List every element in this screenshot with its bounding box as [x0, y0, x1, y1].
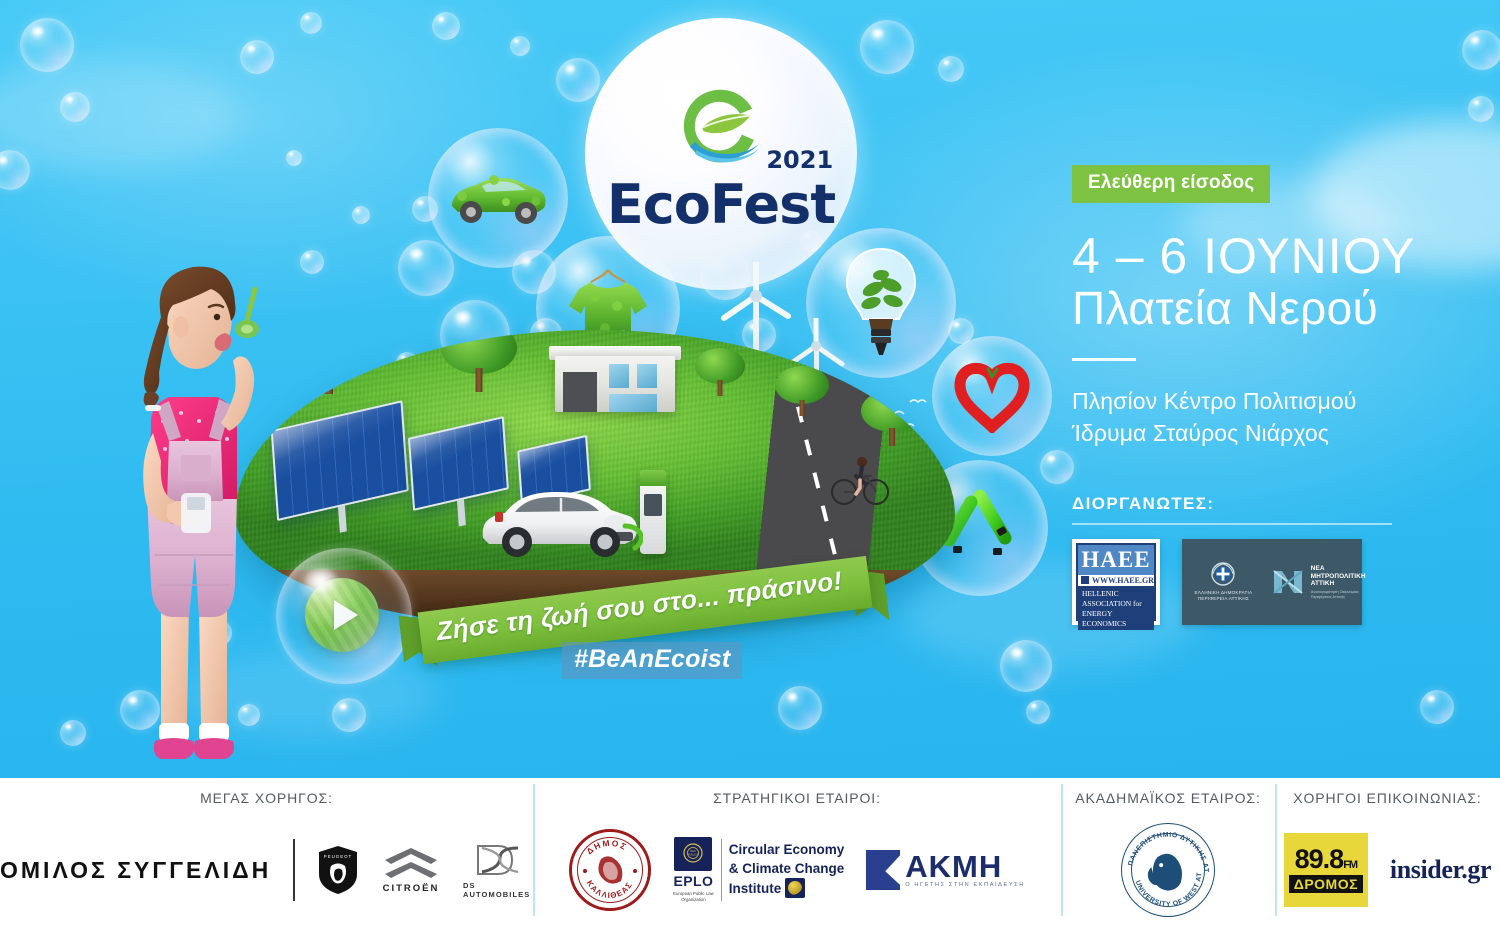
svg-text:PUBLICA: PUBLICA	[688, 854, 699, 857]
ds-wordmark: DS AUTOMOBILES	[463, 881, 533, 899]
footer-label-academic-partner: ΑΚΑΔΗΜΑΪΚΟΣ ΕΤΑΙΡΟΣ:	[1075, 790, 1261, 806]
attica-sub-1: Ανασυγκρότηση Οικονομίας	[1311, 589, 1366, 594]
footer-column-strategic-partners: ΣΤΡΑΤΗΓΙΚΟΙ ΕΤΑΙΡΟΙ: ΔΗΜΟΣ ΚΑΛΛΙΘΕΑΣ	[533, 778, 1061, 928]
attica-brand-3: ΑΤΤΙΚΗ	[1311, 580, 1366, 588]
sponsors-footer: ΜΕΓΑΣ ΧΟΡΗΓΟΣ: ΟΜΙΛΟΣ ΣΥΓΓΕΛΙΔΗ PEUGEOT	[0, 778, 1500, 928]
greek-coat-of-arms-icon	[1210, 561, 1236, 587]
pepper-heart-icon	[952, 359, 1032, 433]
event-date: 4 – 6 ΙΟΥΝΙΟΥ	[1072, 229, 1472, 283]
play-triangle-icon	[334, 600, 358, 630]
eplo-divider	[721, 839, 722, 901]
citroen-chevrons-icon	[381, 846, 441, 880]
ecofest-wordmark: 2021 EcoFest	[607, 178, 835, 232]
green-car-icon	[446, 168, 550, 228]
soap-bubble	[60, 720, 86, 746]
soap-bubble	[1468, 96, 1494, 122]
peugeot-shield-icon: PEUGEOT	[317, 844, 359, 896]
haee-line-2: ASSOCIATION for	[1082, 599, 1151, 609]
akmi-tagline: Ο ΗΓΕΤΗΣ ΣΤΗΝ ΕΚΠΑΙΔΕΥΣΗ	[905, 882, 1025, 888]
soap-bubble	[300, 250, 324, 274]
svg-text:ΔΗΜΟΣ: ΔΗΜΟΣ	[584, 838, 629, 857]
sponsor-divider	[293, 839, 295, 901]
logo-text: EcoFest	[607, 173, 835, 236]
soap-bubble	[556, 58, 600, 102]
eplo-crest-icon: RES PUBLICA	[674, 837, 712, 871]
footer-column-academic-partner: ΑΚΑΔΗΜΑΪΚΟΣ ΕΤΑΙΡΟΣ: ΠΑΝΕΠΙΣΤΗΜΙΟ ΔΥΤΙΚΗ…	[1061, 778, 1275, 928]
haee-logo: HAEE WWW.HAEE.GR HELLENIC ASSOCIATION fo…	[1072, 539, 1160, 625]
svg-text:PEUGEOT: PEUGEOT	[324, 854, 352, 859]
media-sponsor-insider: insider.gr	[1390, 855, 1491, 885]
akmi-mark-icon	[866, 850, 900, 890]
ev-charging-station	[640, 470, 666, 554]
haee-url: WWW.HAEE.GR	[1092, 576, 1154, 585]
dromos-fm-label: FM	[1343, 859, 1357, 871]
soap-bubble	[240, 40, 274, 74]
eplo-title-2: & Climate Change	[729, 860, 845, 878]
ecofest-logo-bubble: 2021 EcoFest	[585, 18, 857, 290]
dromos-station-name: ΔΡΟΜΟΣ	[1289, 875, 1363, 893]
akmi-wordmark: ΑΚΜΗ	[905, 852, 1025, 881]
soap-bubble	[510, 36, 530, 56]
tree	[283, 330, 375, 394]
attica-brand-2: ΜΗΤΡΟΠΟΛΙΤΙΚΗ	[1311, 573, 1366, 581]
logo-year: 2021	[766, 146, 833, 174]
svg-text:RES: RES	[691, 849, 697, 853]
cloud	[0, 60, 240, 170]
eplo-acronym: EPLO	[674, 873, 714, 889]
soap-bubble	[352, 206, 370, 224]
tree	[775, 366, 829, 416]
haee-line-3: ENERGY ECONOMICS	[1082, 609, 1151, 629]
eco-house	[555, 338, 675, 412]
event-place: Πλατεία Νερού	[1072, 283, 1472, 334]
dromos-frequency: 89.8	[1295, 844, 1344, 874]
eplo-globe-icon	[785, 878, 805, 898]
tree	[441, 330, 517, 392]
soap-bubble	[938, 56, 964, 82]
organizers-label: ΔΙΟΡΓΑΝΩΤΕΣ:	[1072, 494, 1472, 514]
hero-sky-background: 2021 EcoFest	[0, 0, 1500, 778]
footer-column-main-sponsor: ΜΕΓΑΣ ΧΟΡΗΓΟΣ: ΟΜΙΛΟΣ ΣΥΓΓΕΛΙΔΗ PEUGEOT	[0, 778, 533, 928]
attica-brand-1: ΝΕΑ	[1311, 565, 1366, 573]
footer-label-strategic-partners: ΣΤΡΑΤΗΓΙΚΟΙ ΕΤΑΙΡΟΙ:	[713, 790, 881, 806]
electric-car	[475, 482, 643, 560]
citroen-wordmark: CITROËN	[383, 883, 440, 894]
tree	[695, 348, 745, 396]
venue-line-2: Ίδρυμα Σταύρος Νιάρχος	[1072, 417, 1472, 450]
organizers-logos: HAEE WWW.HAEE.GR HELLENIC ASSOCIATION fo…	[1072, 539, 1472, 625]
soap-bubble	[1026, 700, 1050, 724]
play-leaf-button[interactable]	[305, 578, 379, 652]
sponsor-citroen: CITROËN	[381, 846, 441, 894]
haee-line-1: HELLENIC	[1082, 589, 1151, 599]
girl-blowing-bubbles	[95, 255, 285, 775]
partner-eplo-institute: RES PUBLICA EPLO European Public Law Org…	[673, 837, 844, 902]
partner-dimos-kallitheas: ΔΗΜΟΣ ΚΑΛΛΙΘΕΑΣ	[569, 829, 651, 911]
attica-caption-2: ΠΕΡΙΦΕΡΕΙΑ ΑΤΤΙΚΗΣ	[1195, 596, 1253, 602]
sponsor-omilos-syggelidi: ΟΜΙΛΟΣ ΣΥΓΓΕΛΙΔΗ	[0, 857, 271, 884]
ecofest-poster: 2021 EcoFest	[0, 0, 1500, 928]
partner-university-west-attica: ΠΑΝΕΠΙΣΤΗΜΙΟ ΔΥΤΙΚΗΣ ΑΤΤΙΚΗΣ UNIVERSITY …	[1121, 823, 1215, 917]
uniwa-seal-icon: ΠΑΝΕΠΙΣΤΗΜΙΟ ΔΥΤΙΚΗΣ ΑΤΤΙΚΗΣ UNIVERSITY …	[1122, 824, 1214, 916]
venue-line-1: Πλησίον Κέντρο Πολιτισμού	[1072, 385, 1472, 418]
attica-region-logo: ΕΛΛΗΝΙΚΗ ΔΗΜΟΚΡΑΤΙΑ ΠΕΡΙΦΕΡΕΙΑ ΑΤΤΙΚΗΣ	[1182, 539, 1362, 625]
footer-column-media-sponsors: ΧΟΡΗΓΟΙ ΕΠΙΚΟΙΝΩΝΙΑΣ: 89.8FM ΔΡΟΜΟΣ insi…	[1275, 778, 1500, 928]
free-entry-badge: Ελεύθερη είσοδος	[1072, 165, 1270, 203]
footer-label-main-sponsor: ΜΕΓΑΣ ΧΟΡΗΓΟΣ:	[200, 790, 333, 806]
media-sponsor-dromos-fm: 89.8FM ΔΡΟΜΟΣ	[1284, 833, 1368, 907]
sponsor-peugeot: PEUGEOT	[317, 844, 359, 896]
soap-bubble	[778, 686, 822, 730]
divider-rule	[1072, 358, 1136, 361]
eplo-sub-2: Organization	[673, 897, 714, 903]
haee-acronym: HAEE	[1081, 547, 1150, 573]
svg-text:ΚΑΛΛΙΘΕΑΣ: ΚΑΛΛΙΘΕΑΣ	[585, 879, 635, 900]
soap-bubble	[1462, 30, 1500, 70]
partner-akmi: ΑΚΜΗ Ο ΗΓΕΤΗΣ ΣΤΗΝ ΕΚΠΑΙΔΕΥΣΗ	[866, 850, 1025, 890]
hashtag-label: #BeAnEcoist	[562, 642, 742, 679]
eco-leaf-circle-icon	[669, 76, 773, 176]
organizers-rule	[1072, 523, 1392, 525]
soap-bubble	[860, 20, 914, 74]
ds-logo-icon	[472, 842, 524, 878]
soap-bubble	[286, 150, 302, 166]
eplo-title-1: Circular Economy	[729, 841, 845, 859]
attica-sub-2: Περιφέρειας Αττικής	[1311, 594, 1366, 599]
cyclist	[830, 450, 890, 508]
soap-bubble	[432, 12, 460, 40]
sponsor-ds-automobiles: DS AUTOMOBILES	[463, 842, 533, 899]
tree	[861, 390, 923, 446]
soap-bubble	[1420, 690, 1454, 724]
kallithea-seal-icon: ΔΗΜΟΣ ΚΑΛΛΙΘΕΑΣ	[573, 833, 647, 907]
event-info-panel: Ελεύθερη είσοδος 4 – 6 ΙΟΥΝΙΟΥ Πλατεία Ν…	[1072, 165, 1472, 625]
haee-square-icon	[1081, 576, 1089, 584]
nea-mitropolitiki-attiki-icon	[1272, 567, 1306, 597]
eplo-title-3: Institute	[729, 881, 782, 896]
soap-bubble	[300, 12, 322, 34]
footer-label-media-sponsors: ΧΟΡΗΓΟΙ ΕΠΙΚΟΙΝΩΝΙΑΣ:	[1293, 790, 1481, 806]
